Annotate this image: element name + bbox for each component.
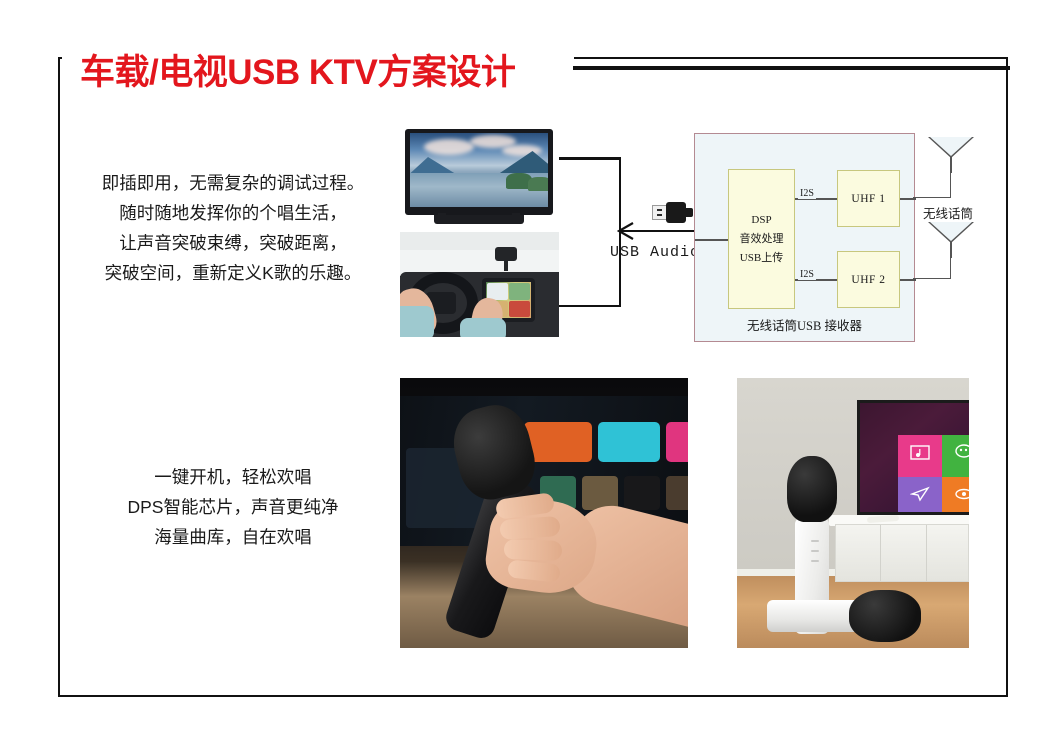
uhf1-block: UHF 1 bbox=[837, 170, 900, 227]
features-paragraph: 一键开机，轻松欢唱 DPS智能芯片，声音更纯净 海量曲库，自在欢唱 bbox=[78, 462, 388, 552]
uhf2-block: UHF 2 bbox=[837, 251, 900, 308]
usb-plug-icon bbox=[652, 202, 692, 224]
antenna-1-icon bbox=[928, 137, 974, 173]
wire-uhf1-out bbox=[900, 198, 916, 200]
wire-usb-in bbox=[695, 239, 728, 241]
usb-receiver-block-diagram: DSP 音效处理 USB上传 UHF 1 UHF 2 I2S I2S 无线话筒U… bbox=[694, 133, 915, 342]
wire-uhf2-out bbox=[900, 279, 916, 281]
intro-line-3: 让声音突破束缚，突破距离， bbox=[78, 228, 388, 258]
usb-connection-bracket bbox=[559, 157, 645, 307]
tv-stand-bar bbox=[434, 215, 524, 224]
page-title: 车载/电视USB KTV方案设计 bbox=[80, 44, 515, 95]
microphone-in-car-photo bbox=[400, 378, 688, 648]
intro-line-4: 突破空间，重新定义K歌的乐趣。 bbox=[78, 258, 388, 288]
dsp-block: DSP 音效处理 USB上传 bbox=[728, 169, 795, 309]
tv-tile-view bbox=[942, 477, 969, 515]
tv-tile-send bbox=[898, 477, 942, 515]
car-interior-photo bbox=[400, 232, 559, 337]
media-thumb-3 bbox=[624, 476, 660, 510]
wall-mounted-tv bbox=[857, 400, 969, 515]
wireless-mic-label: 无线话筒 bbox=[923, 203, 973, 222]
microphone-standing-foam bbox=[787, 456, 837, 522]
driver-sleeve-left bbox=[400, 306, 434, 337]
finger-3 bbox=[504, 539, 563, 561]
usb-metal-contact bbox=[652, 205, 667, 220]
i2s-label-2: I2S bbox=[798, 269, 816, 280]
intro-paragraph: 即插即用，无需复杂的调试过程。 随时随地发挥你的个唱生活， 让声音突破束缚，突破… bbox=[78, 168, 388, 288]
media-tile-pink bbox=[666, 422, 688, 462]
feature-line-1: 一键开机，轻松欢唱 bbox=[78, 462, 388, 492]
title-underline-rule bbox=[573, 66, 1010, 70]
intro-line-1: 即插即用，无需复杂的调试过程。 bbox=[78, 168, 388, 198]
diagram-caption: 无线话筒USB 接收器 bbox=[695, 315, 914, 334]
feature-line-2: DPS智能芯片，声音更纯净 bbox=[78, 492, 388, 522]
media-tile-cyan bbox=[598, 422, 660, 462]
tv-bezel bbox=[405, 129, 553, 215]
tv-console-cabinet bbox=[835, 524, 969, 582]
usb-connector-body bbox=[666, 202, 686, 223]
chat-bubble-icon bbox=[954, 443, 969, 461]
dsp-feature-usb: USB上传 bbox=[740, 249, 783, 268]
wire-to-antenna-2 bbox=[913, 278, 951, 280]
eye-icon bbox=[954, 485, 969, 503]
music-folder-icon bbox=[910, 443, 930, 461]
antenna-2-icon bbox=[928, 222, 974, 258]
media-thumb-4 bbox=[666, 476, 688, 510]
microphone-lying-foam bbox=[849, 590, 921, 642]
usb-audio-label: USB Audio bbox=[610, 244, 700, 261]
driver-sleeve-right bbox=[460, 318, 506, 337]
i2s-label-1: I2S bbox=[798, 188, 816, 199]
finger-2 bbox=[499, 516, 560, 540]
tv-screen-landscape bbox=[410, 133, 548, 207]
dsp-title: DSP bbox=[751, 211, 771, 230]
wire-antenna-2-stem bbox=[950, 257, 952, 279]
tv-tile-chat bbox=[942, 435, 969, 477]
microphones-home-photo bbox=[737, 378, 969, 648]
tv-tile-music bbox=[898, 435, 942, 477]
feature-line-3: 海量曲库，自在欢唱 bbox=[78, 522, 388, 552]
tv-foot-left bbox=[438, 213, 446, 223]
tv-product-photo bbox=[400, 125, 559, 228]
tv-foot-right bbox=[512, 213, 520, 223]
usb-cable-tail bbox=[685, 208, 693, 217]
left-arrow-icon bbox=[617, 221, 637, 241]
car-mount-arm bbox=[504, 259, 508, 271]
paper-plane-icon bbox=[910, 485, 930, 503]
wire-antenna-1-stem bbox=[950, 173, 952, 198]
wire-to-antenna-1 bbox=[913, 197, 951, 199]
dsp-feature-audio: 音效处理 bbox=[740, 230, 784, 249]
intro-line-2: 随时随地发挥你的个唱生活， bbox=[78, 198, 388, 228]
